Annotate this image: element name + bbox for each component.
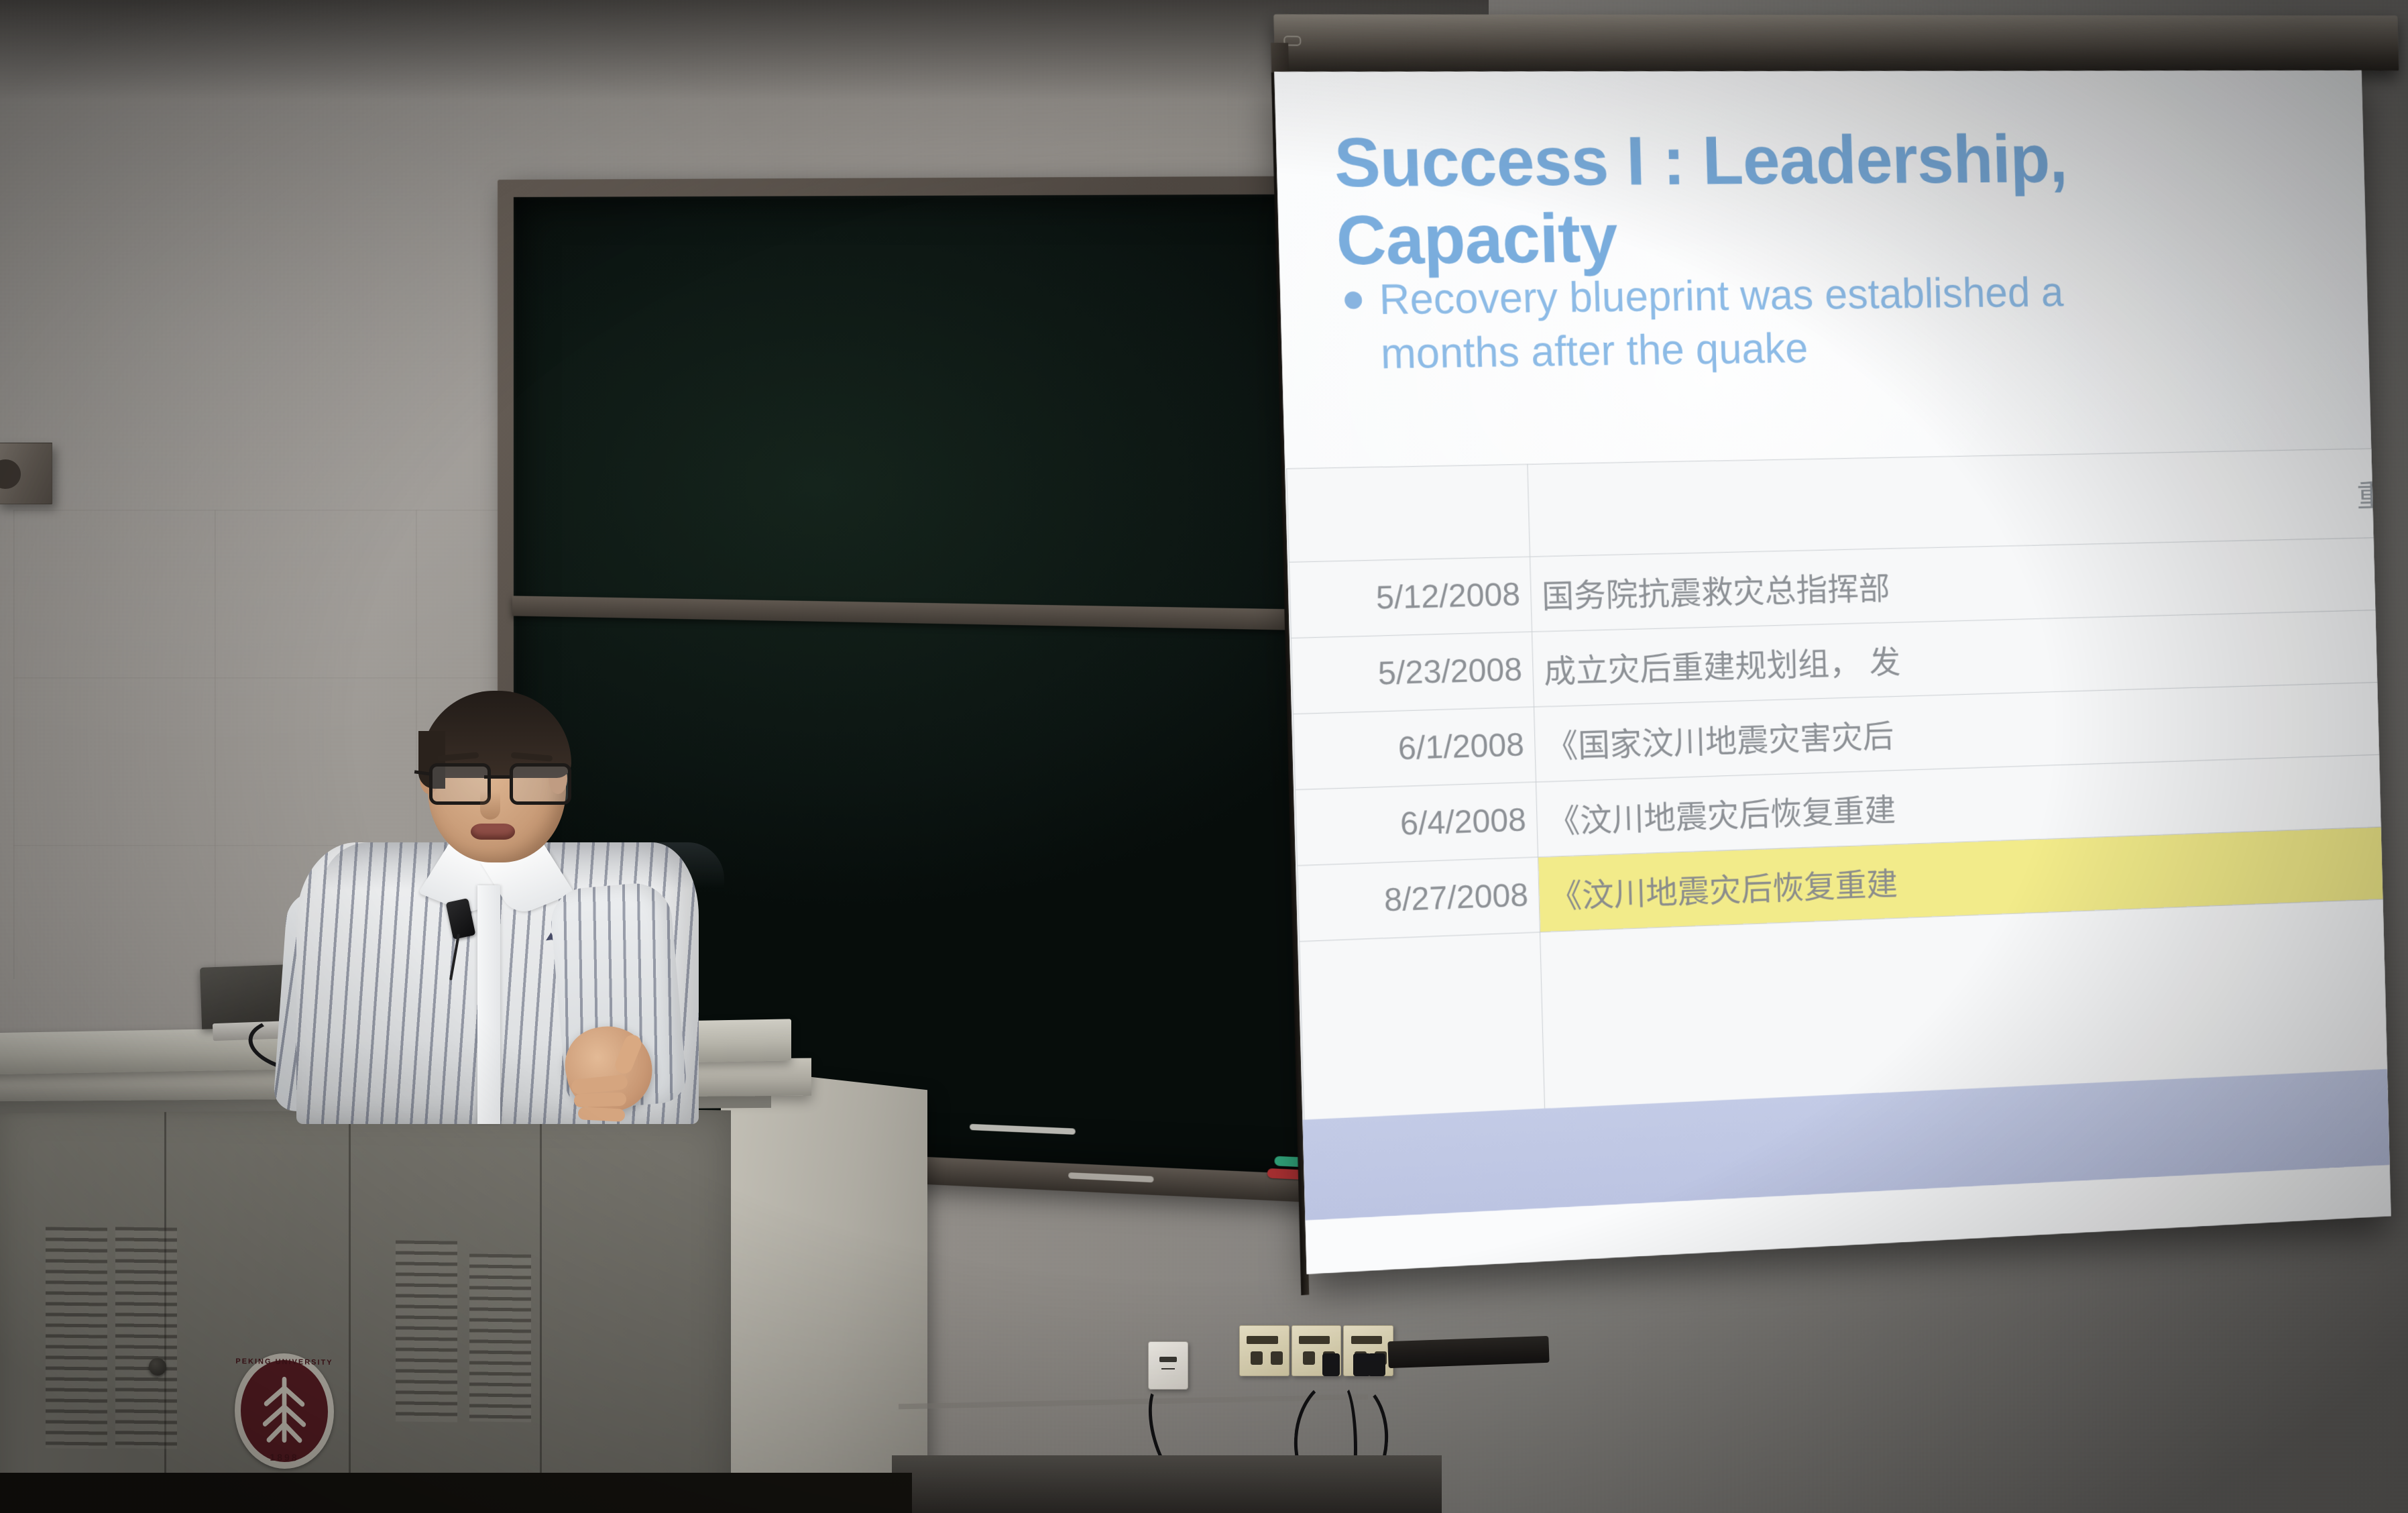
bullet-dot-icon: [1344, 292, 1363, 309]
cell-date: 5/23/2008: [1292, 632, 1534, 714]
podium-panel-seam: [349, 1108, 351, 1513]
bullet-line-2: months after the quake: [1380, 324, 1809, 378]
seal-founding-year: 1898: [235, 1451, 334, 1463]
projected-slide: Success I : Leadership, Capacity Recover…: [1274, 70, 2391, 1274]
slide-bullet: Recovery blueprint was established a mon…: [1344, 262, 2391, 381]
column-header-date: [1287, 464, 1530, 562]
wall-outlet: [1239, 1325, 1289, 1376]
slide-title-line1: Success I : Leadership,: [1333, 121, 2067, 202]
shirt-button-placket: [477, 885, 500, 1124]
seal-university-name: PEKING UNIVERSITY: [235, 1357, 334, 1367]
projection-screen: Success I : Leadership, Capacity Recover…: [1334, 0, 2380, 1341]
presenter: [322, 684, 671, 1100]
lecture-hall-photo: Success I : Leadership, Capacity Recover…: [0, 0, 2408, 1513]
cell-date: 6/1/2008: [1294, 707, 1536, 790]
slide-bullet-text: Recovery blueprint was established a mon…: [1379, 266, 2065, 380]
podium-front-panel: [0, 1100, 731, 1513]
wall-speaker-box: [0, 443, 52, 504]
peking-university-seal-icon: PEKING UNIVERSITY 1898: [235, 1353, 334, 1469]
cell-date: 6/4/2008: [1296, 782, 1538, 866]
cell-date: 5/12/2008: [1289, 557, 1532, 638]
power-plug: [1368, 1353, 1385, 1376]
ceiling-shadow: [0, 0, 1489, 101]
presenter-nose: [480, 791, 500, 820]
presenter-finger: [578, 1107, 626, 1122]
screen-roller-housing: [1273, 14, 2399, 72]
slide-title: Success I : Leadership, Capacity: [1333, 120, 2383, 280]
bullet-line-1: Recovery blueprint was established a: [1379, 268, 2064, 323]
presenter-mouth: [471, 824, 515, 840]
power-plug: [1322, 1353, 1340, 1376]
cell-date: 8/27/2008: [1298, 857, 1540, 942]
podium-lock-knob[interactable]: [149, 1358, 166, 1376]
podium-side-panel: [721, 1067, 927, 1513]
cable-conduit: [1387, 1336, 1549, 1368]
podium-vent-louvers: [469, 1253, 531, 1422]
floor-baseboard: [892, 1455, 1442, 1513]
presenter-finger: [574, 1092, 627, 1108]
dark-floor-area: [0, 1473, 912, 1513]
podium-vent-louvers: [396, 1240, 457, 1422]
podium-vent-louvers: [46, 1227, 107, 1449]
seal-monogram-icon: [252, 1373, 317, 1446]
podium-vent-louvers: [115, 1227, 177, 1449]
podium-panel-seam: [540, 1108, 542, 1513]
